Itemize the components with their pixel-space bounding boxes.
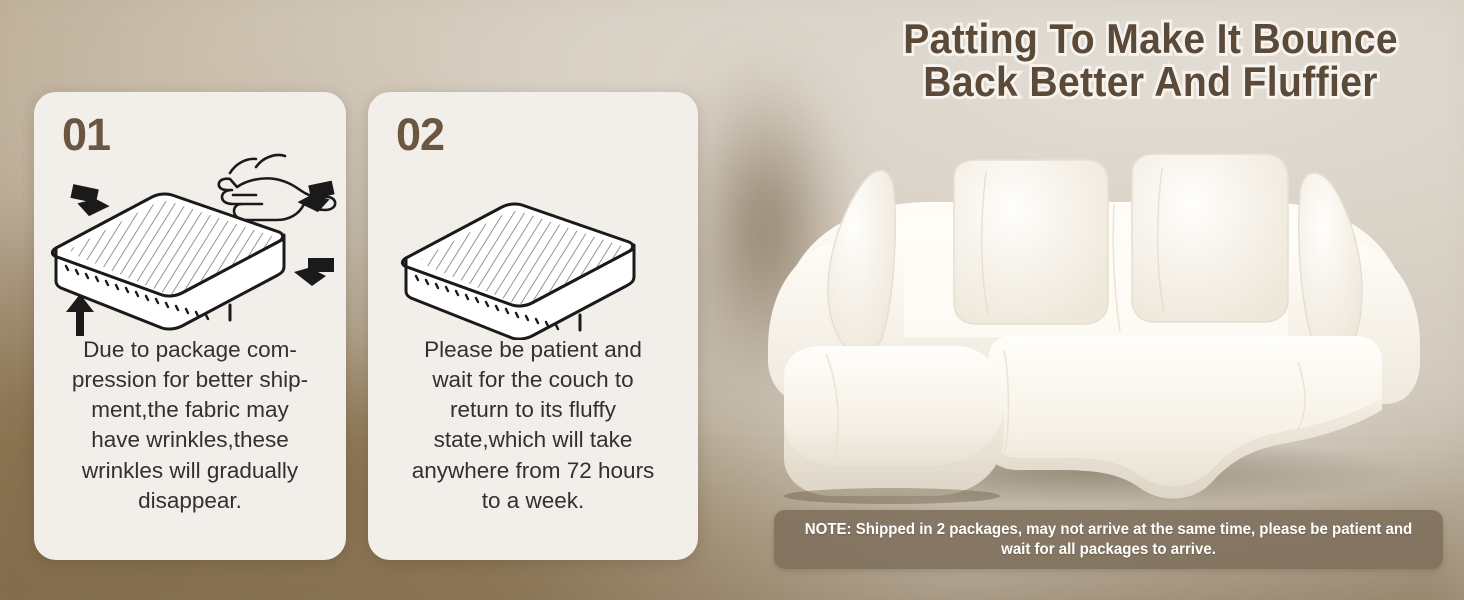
- pillow-2: [954, 160, 1108, 324]
- step-card-01: 01: [34, 92, 346, 560]
- sofa-base-shadow: [784, 488, 1000, 504]
- page-title-line-1: Patting To Make It Bounce: [903, 17, 1398, 60]
- step-description-01: Due to package com-pression for better s…: [48, 335, 332, 516]
- note-text: NOTE: Shipped in 2 packages, may not arr…: [784, 520, 1433, 560]
- mattress-icon: [402, 204, 634, 339]
- note-banner: NOTE: Shipped in 2 packages, may not arr…: [774, 510, 1443, 569]
- mattress-patting-illustration: [34, 140, 346, 340]
- mattress-illustration: [368, 140, 698, 340]
- step-card-02: 02: [368, 92, 698, 560]
- pillow-4: [1299, 173, 1362, 353]
- page-title-line-2: Back Better And Fluffier: [903, 60, 1398, 103]
- motion-lines-icon: [230, 155, 285, 173]
- product-photo-sofa: [742, 140, 1446, 510]
- step-description-02: Please be patient andwait for the couch …: [382, 335, 684, 516]
- page-title: Patting To Make It Bounce Back Better An…: [903, 17, 1398, 104]
- pillow-1: [828, 171, 895, 353]
- sofa-chaise-top: [784, 346, 1004, 466]
- pillow-3: [1132, 154, 1288, 322]
